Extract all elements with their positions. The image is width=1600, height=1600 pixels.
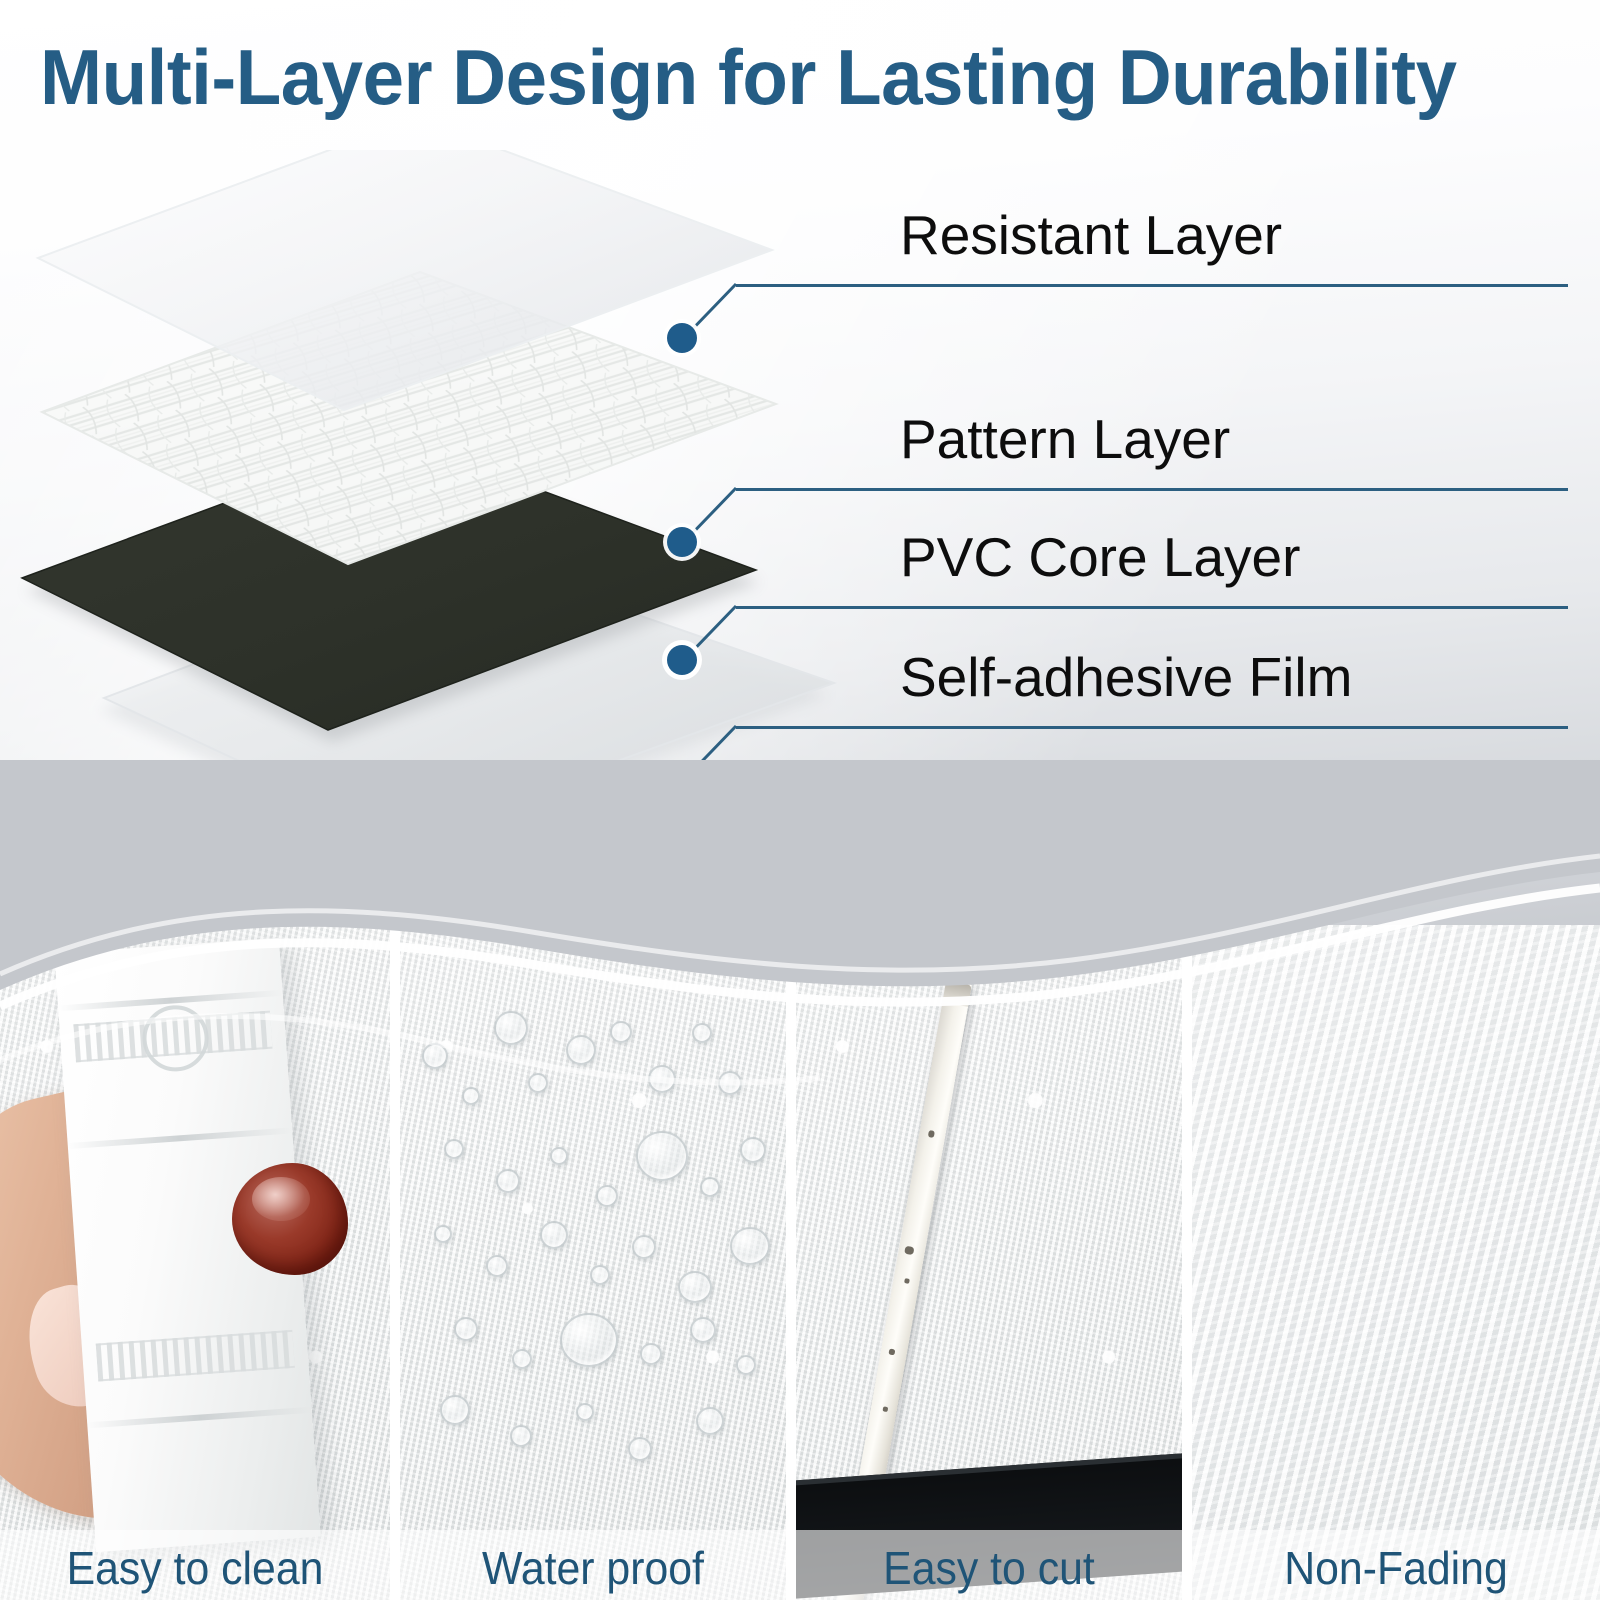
stain-highlight [252,1177,310,1221]
panel-caption-easy-to-cut: Easy to cut [810,1543,1169,1594]
panel-caption-non-fading: Non-Fading [1206,1543,1585,1594]
infographic-root: Multi-Layer Design for Lasting Durabilit… [0,0,1600,1600]
layer-diagram-section: Multi-Layer Design for Lasting Durabilit… [0,0,1600,930]
water-droplet [540,1221,568,1249]
water-droplet-large [636,1131,688,1181]
cloth-fold [87,1407,312,1429]
leader-line-resistant [736,284,1568,287]
page-title: Multi-Layer Design for Lasting Durabilit… [40,38,1511,116]
layer-label-pvc-core: PVC Core Layer [900,530,1300,585]
water-droplet [678,1271,712,1303]
water-droplet [628,1437,652,1461]
water-droplet [528,1073,548,1093]
water-droplet [454,1317,478,1341]
water-droplet [486,1255,508,1277]
leader-dot-resistant [667,323,697,353]
water-droplet [700,1177,720,1197]
water-droplet [434,1225,452,1243]
feature-panel-easy-to-cut[interactable]: Easy to cut [796,925,1182,1600]
water-droplet [422,1043,448,1069]
blade-speck [882,1406,888,1412]
water-droplet [640,1343,662,1365]
water-droplet [590,1265,610,1285]
water-droplet [648,1065,676,1093]
water-droplet [690,1317,716,1343]
water-droplet [496,1169,520,1193]
leader-dot-pvc-core [667,645,697,675]
blade-speck [904,1246,914,1255]
water-droplet [692,1023,712,1043]
leader-line-pvc-core [736,606,1568,609]
layer-label-pattern: Pattern Layer [900,412,1230,467]
water-droplet [632,1235,656,1259]
red-stain [232,1163,348,1275]
panel-texture [400,925,786,1600]
water-droplet [550,1147,568,1165]
water-droplet [444,1139,464,1159]
water-droplet [596,1185,618,1207]
water-droplet [576,1403,594,1421]
blade-speck [904,1278,910,1284]
panel-caption-water-proof: Water proof [414,1543,773,1594]
leader-dot-pattern [667,527,697,557]
blade-tip [942,981,971,1007]
leader-line-pattern [736,488,1568,491]
layer-stack-graphic [0,150,900,890]
water-droplet [512,1349,532,1369]
layer-label-adhesive: Self-adhesive Film [900,650,1352,705]
water-droplet-large [560,1313,618,1367]
cloth-fold [68,1127,293,1149]
feature-panel-easy-to-clean[interactable]: Easy to clean [0,925,390,1600]
water-droplet [462,1087,480,1105]
panel-texture [1192,925,1600,1600]
water-droplet [736,1355,756,1375]
panel-caption-easy-to-clean: Easy to clean [14,1543,377,1594]
layer-label-resistant: Resistant Layer [900,208,1282,263]
water-droplet [610,1021,632,1043]
cloth-emboss-band [96,1330,295,1382]
leader-dot-adhesive [667,765,697,795]
water-droplet [440,1395,470,1425]
feature-panel-water-proof[interactable]: Water proof [400,925,786,1600]
leader-line-adhesive [736,726,1568,729]
water-droplet [510,1425,532,1447]
blade-speck [928,1130,935,1138]
water-droplet [740,1137,766,1163]
water-droplet [566,1035,596,1065]
blade-speck [888,1348,895,1355]
water-droplet [696,1407,724,1435]
water-droplet-large [730,1227,770,1265]
water-droplet [494,1011,528,1045]
cloth-flower-motif [140,1003,210,1073]
feature-panel-strip: Easy to clean [0,925,1600,1600]
water-droplet [718,1071,742,1095]
feature-panel-non-fading[interactable]: Non-Fading [1192,925,1600,1600]
